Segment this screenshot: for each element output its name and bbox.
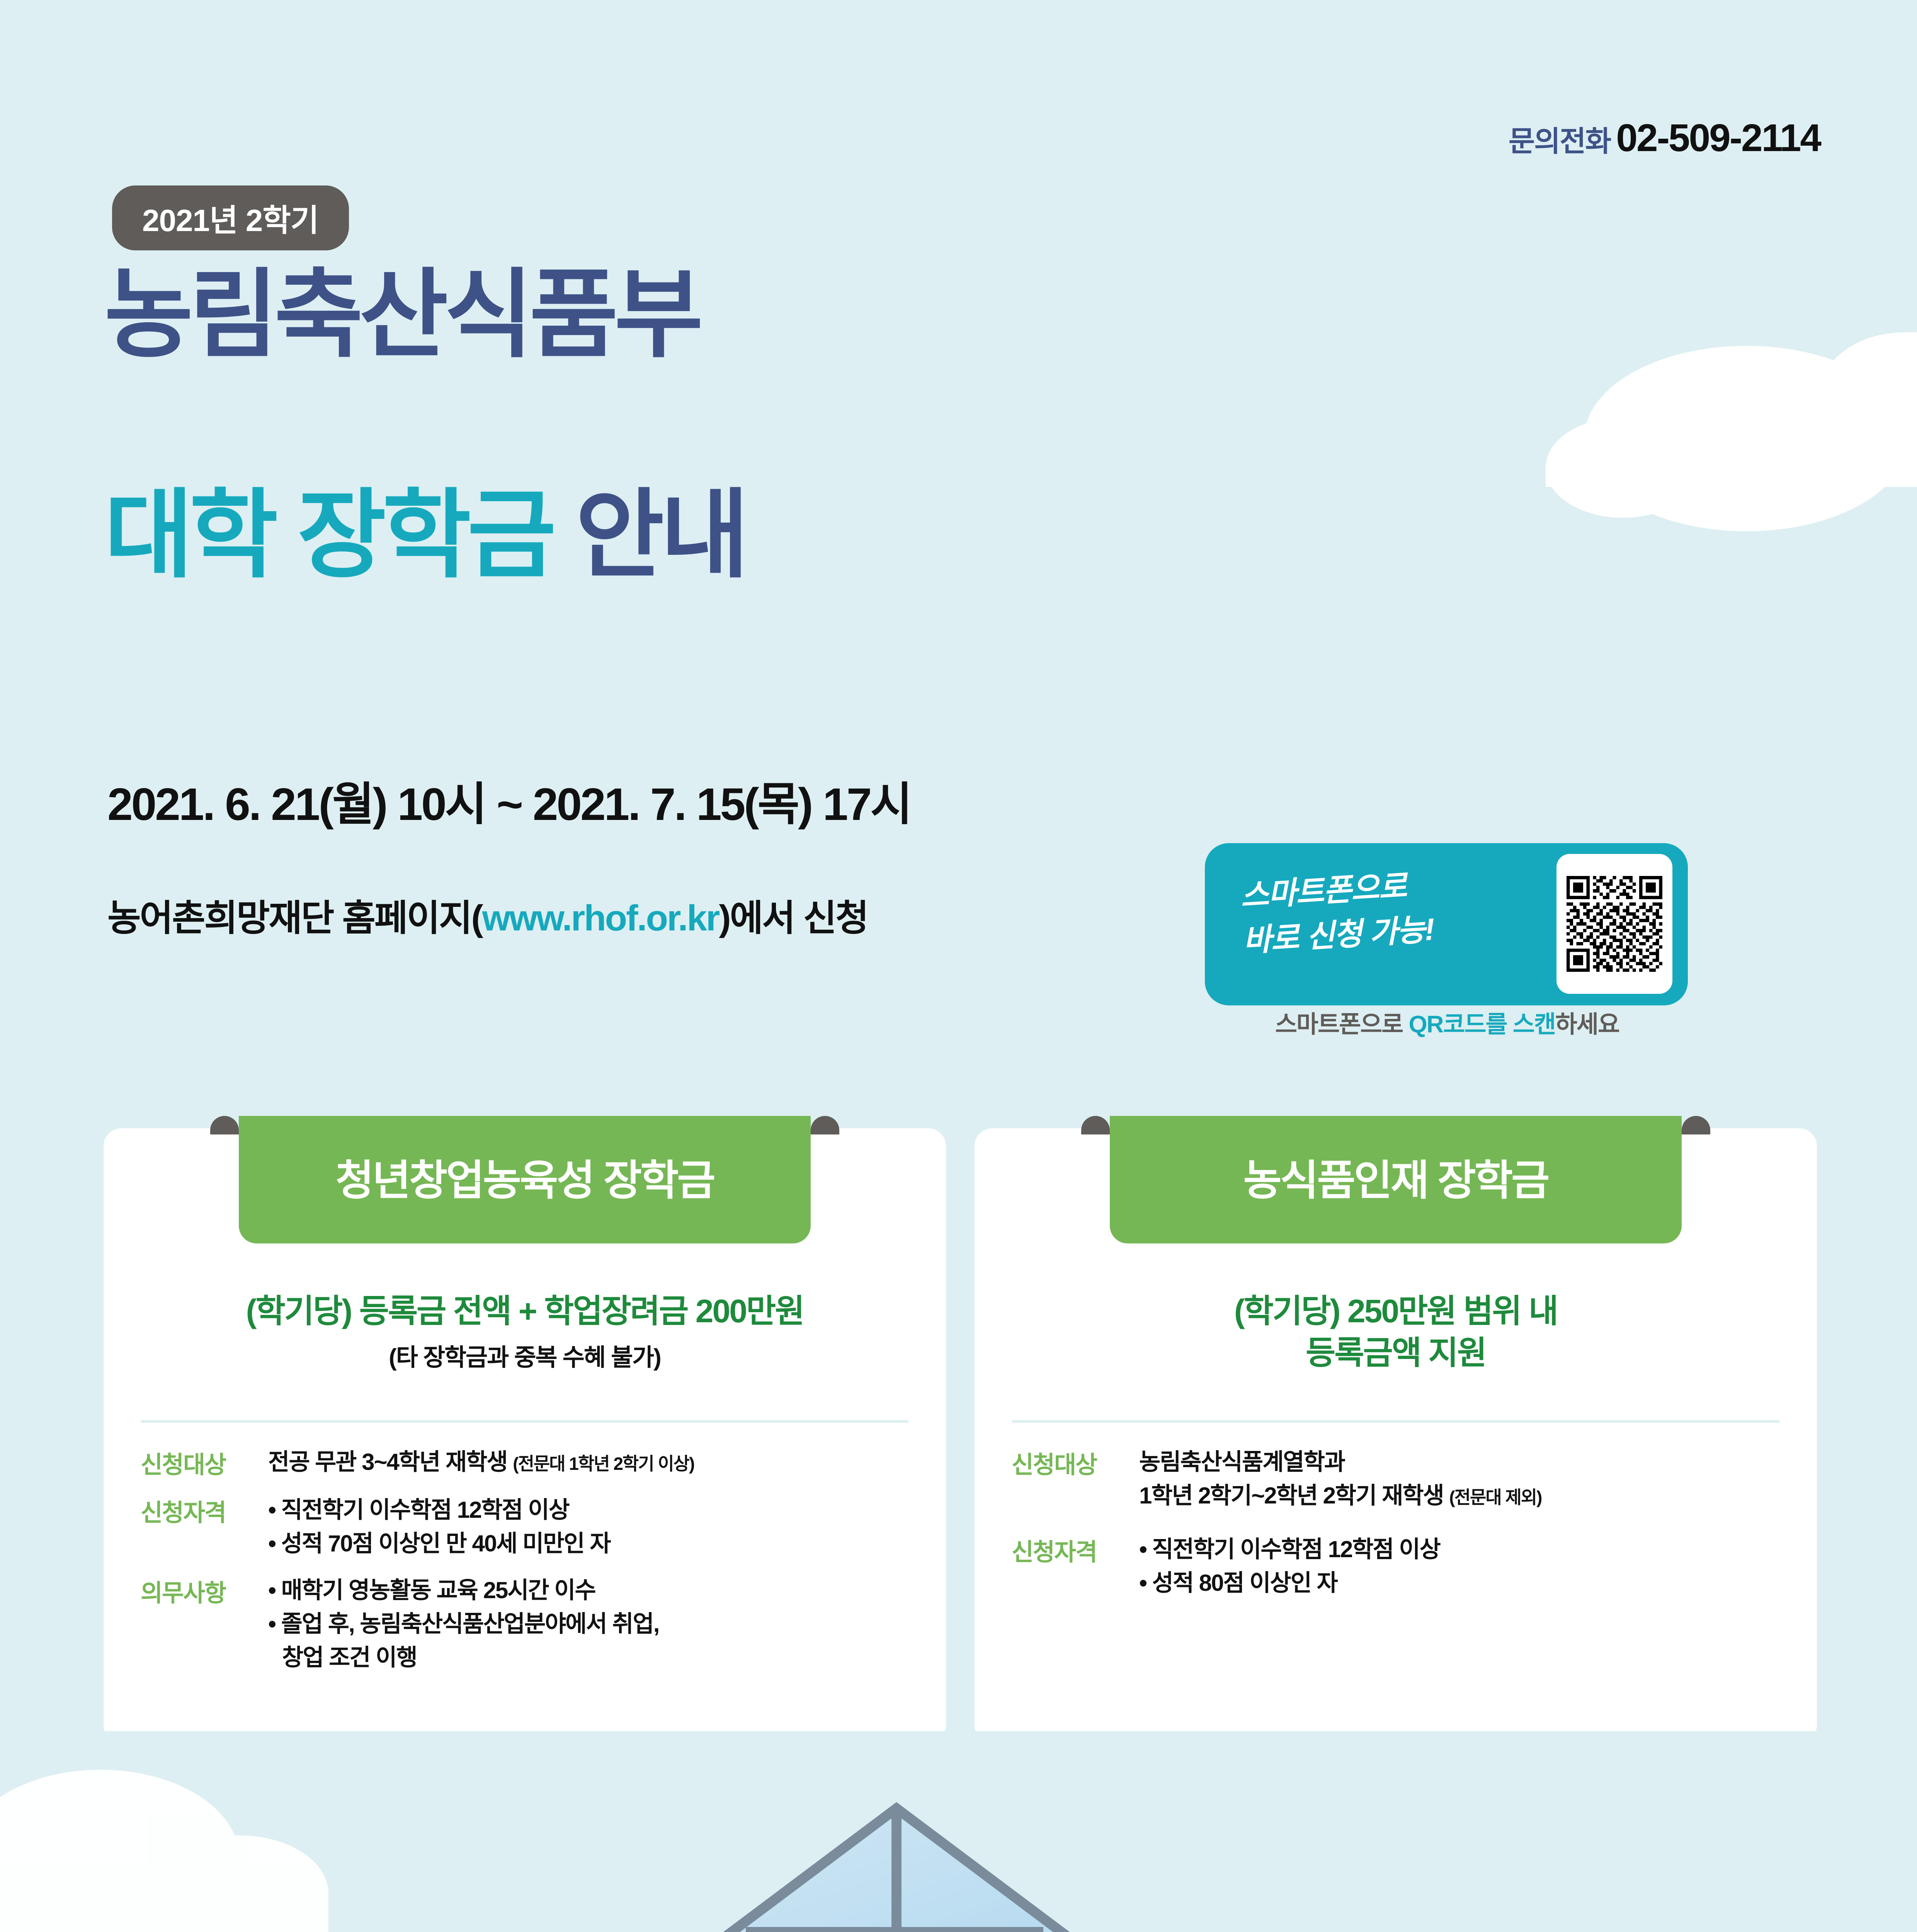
detail-row-body: • 매학기 영농활동 교육 25시간 이수 • 졸업 후, 농림축산식품산업분야…	[268, 1573, 919, 1674]
qr-bubble-text: 스마트폰으로 바로 신청 가능!	[1239, 857, 1515, 963]
detail-line: • 직전학기 이수학점 12학점 이상	[1139, 1532, 1790, 1566]
ribbon-fold-right-icon	[1682, 1116, 1710, 1134]
card-amount: (학기당) 등록금 전액 + 학업장려금 200만원 (타 장학금과 중복 수혜…	[104, 1291, 946, 1372]
qr-code-icon[interactable]	[1567, 876, 1662, 972]
detail-row-label: 신청자격	[1012, 1532, 1139, 1567]
qr-caption: 스마트폰으로 QR코드를 스캔하세요	[1198, 1005, 1696, 1039]
poster-title-scholarship: 대학 장학금	[104, 481, 552, 589]
qr-bubble: 스마트폰으로 바로 신청 가능!	[1205, 843, 1688, 1005]
detail-line: • 직전학기 이수학점 12학점 이상	[268, 1493, 919, 1527]
detail-line: • 성적 70점 이상인 만 40세 미만인 자	[268, 1527, 919, 1560]
apply-url-link[interactable]: www.rhof.or.kr	[482, 898, 719, 938]
detail-line: 1학년 2학기~2학년 2학기 재학생 (전문대 제외)	[1139, 1479, 1790, 1512]
ribbon-fold-right-icon	[811, 1116, 839, 1134]
card-ribbon: 청년창업농육성 장학금	[239, 1116, 811, 1243]
farm-illustration	[0, 1731, 1917, 1932]
detail-line: • 졸업 후, 농림축산식품산업분야에서 취업,	[268, 1607, 919, 1641]
semester-badge: 2021년 2학기	[112, 185, 349, 250]
card-amount: (학기당) 250만원 범위 내 등록금액 지원	[975, 1291, 1817, 1374]
application-site-line: 농어촌희망재단 홈페이지(www.rhof.or.kr)에서 신청	[107, 889, 868, 941]
card-detail-rows: 신청대상 전공 무관 3~4학년 재학생 (전문대 1학년 2학기 이상) 신청…	[141, 1445, 919, 1687]
detail-line-note: (전문대 1학년 2학기 이상)	[513, 1454, 694, 1474]
scholarship-card-youth-startup-farmer: 청년창업농육성 장학금 (학기당) 등록금 전액 + 학업장려금 200만원 (…	[104, 1128, 946, 1743]
card-divider	[141, 1420, 909, 1423]
qr-caption-a: 스마트폰으로	[1275, 1011, 1408, 1038]
detail-line: • 성적 80점 이상인 자	[1139, 1566, 1790, 1600]
card-amount-note: (타 장학금과 중복 수혜 불가)	[131, 1338, 919, 1372]
detail-line: 전공 무관 3~4학년 재학생 (전문대 1학년 2학기 이상)	[268, 1445, 919, 1479]
poster-root: 문의전화 02-509-2114 2021년 2학기 농림축산식품부 대학 장학…	[0, 0, 1917, 1932]
detail-row-body: 농림축산식품계열학과 1학년 2학기~2학년 2학기 재학생 (전문대 제외)	[1139, 1445, 1790, 1512]
qr-caption-b: QR코드를 스캔	[1408, 1011, 1555, 1038]
detail-line-text: 전공 무관 3~4학년 재학생	[268, 1449, 513, 1475]
scholarship-card-agrifood-talent: 농식품인재 장학금 (학기당) 250만원 범위 내 등록금액 지원 신청대상 …	[975, 1128, 1817, 1743]
detail-row: 의무사항 • 매학기 영농활동 교육 25시간 이수 • 졸업 후, 농림축산식…	[141, 1573, 919, 1674]
ribbon-fold-left-icon	[210, 1116, 239, 1134]
apply-prefix: 농어촌희망재단 홈페이지(	[107, 898, 482, 938]
detail-line-note: (전문대 제외)	[1449, 1487, 1541, 1507]
qr-code-plate[interactable]	[1556, 854, 1672, 994]
detail-line-text: 1학년 2학기~2학년 2학기 재학생	[1139, 1483, 1449, 1509]
phone-label: 문의전화	[1509, 118, 1611, 160]
contact-phone: 문의전화 02-509-2114	[1509, 116, 1820, 160]
detail-row-label: 의무사항	[141, 1573, 268, 1608]
card-detail-rows: 신청대상 농림축산식품계열학과 1학년 2학기~2학년 2학기 재학생 (전문대…	[1012, 1445, 1790, 1613]
card-divider	[1012, 1420, 1780, 1423]
detail-row: 신청자격 • 직전학기 이수학점 12학점 이상 • 성적 80점 이상인 자	[1012, 1532, 1790, 1600]
detail-row: 신청자격 • 직전학기 이수학점 12학점 이상 • 성적 70점 이상인 만 …	[141, 1493, 919, 1560]
application-period: 2021. 6. 21(월) 10시 ~ 2021. 7. 15(목) 17시	[107, 767, 911, 833]
poster-title-guide: 안내	[575, 481, 745, 589]
detail-row: 신청대상 전공 무관 3~4학년 재학생 (전문대 1학년 2학기 이상)	[141, 1445, 919, 1480]
detail-row-label: 신청대상	[1012, 1445, 1139, 1480]
detail-line: 창업 조건 이행	[268, 1641, 919, 1674]
detail-line: • 매학기 영농활동 교육 25시간 이수	[268, 1573, 919, 1607]
detail-row: 신청대상 농림축산식품계열학과 1학년 2학기~2학년 2학기 재학생 (전문대…	[1012, 1445, 1790, 1512]
poster-title-line1: 농림축산식품부	[104, 267, 699, 363]
detail-line: 농림축산식품계열학과	[1139, 1445, 1790, 1479]
detail-row-body: 전공 무관 3~4학년 재학생 (전문대 1학년 2학기 이상)	[268, 1445, 919, 1479]
detail-row-body: • 직전학기 이수학점 12학점 이상 • 성적 80점 이상인 자	[1139, 1532, 1790, 1600]
ribbon-fold-left-icon	[1081, 1116, 1110, 1134]
poster-title-line2: 대학 장학금 안내	[104, 487, 745, 583]
qr-caption-c: 하세요	[1555, 1011, 1619, 1038]
card-title: 청년창업농육성 장학금	[335, 1147, 714, 1207]
card-ribbon: 농식품인재 장학금	[1110, 1116, 1682, 1243]
card-title: 농식품인재 장학금	[1243, 1147, 1548, 1207]
phone-number: 02-509-2114	[1616, 116, 1820, 160]
card-amount-main: (학기당) 등록금 전액 + 학업장려금 200만원	[131, 1291, 919, 1332]
detail-row-label: 신청대상	[141, 1445, 268, 1480]
detail-row-label: 신청자격	[141, 1493, 268, 1528]
detail-row-body: • 직전학기 이수학점 12학점 이상 • 성적 70점 이상인 만 40세 미…	[268, 1493, 919, 1560]
card-amount-main: (학기당) 250만원 범위 내 등록금액 지원	[1002, 1291, 1790, 1374]
apply-suffix: )에서 신청	[719, 898, 867, 938]
